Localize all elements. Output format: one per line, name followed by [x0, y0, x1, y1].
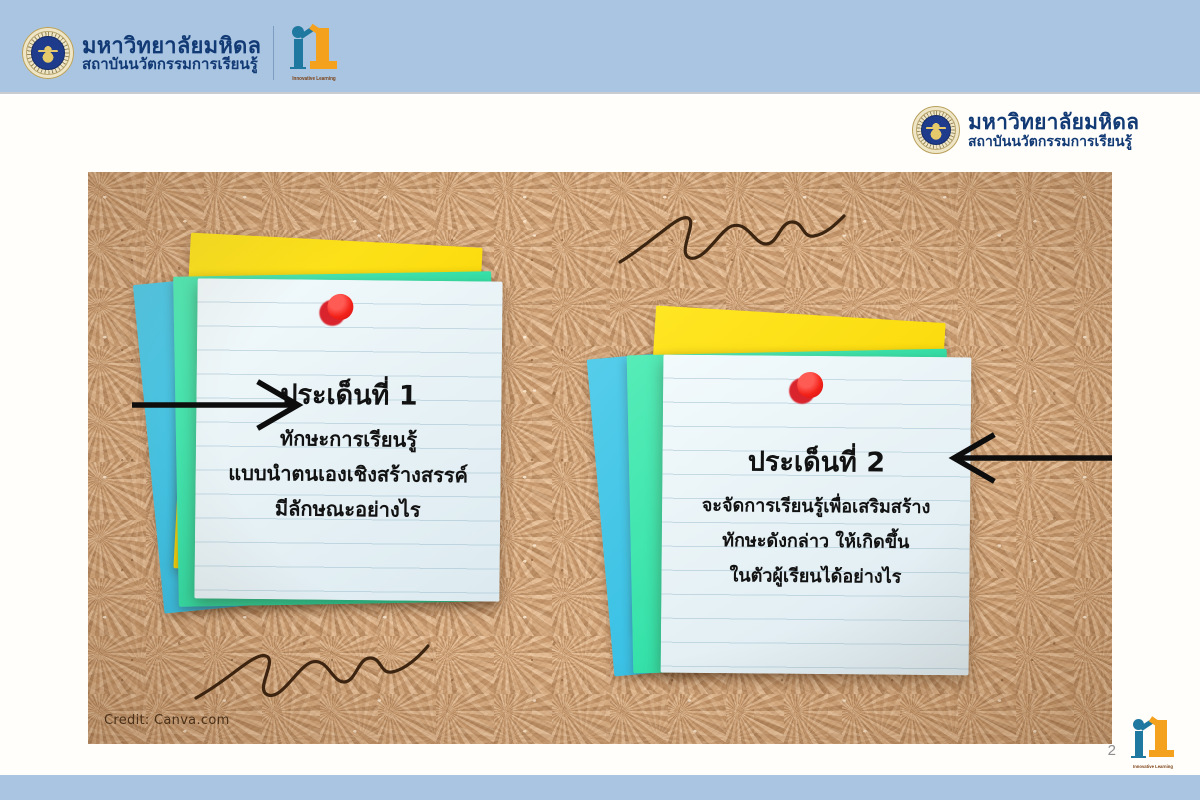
footer-banner	[0, 775, 1200, 800]
footer-il-caption: Innovative Learning	[1130, 764, 1176, 769]
slide-brand-lockup: มหาวิทยาลัยมหิดล สถาบันนวัตกรรมการเรียนร…	[912, 106, 1139, 154]
note-2-title: ประเด็นที่ 2	[662, 439, 970, 485]
slide-brand-text: มหาวิทยาลัยมหิดล สถาบันนวัตกรรมการเรียนร…	[968, 112, 1139, 149]
arrow-right-icon	[132, 377, 312, 433]
note-2-paper[interactable]: ประเด็นที่ 2 จะจัดการเรียนรู้เพื่อเสริมส…	[661, 355, 972, 676]
slide-org-name-line1: มหาวิทยาลัยมหิดล	[968, 112, 1139, 134]
header-brand-text: มหาวิทยาลัยมหิดล สถาบันนวัตกรรมการเรียนร…	[82, 34, 261, 73]
corkboard-panel: ประเด็นที่ 1 ทักษะการเรียนรู้ แบบนำตนเอง…	[88, 172, 1112, 744]
note-1-paper[interactable]: ประเด็นที่ 1 ทักษะการเรียนรู้ แบบนำตนเอง…	[194, 278, 502, 601]
note-2-line-1: จะจัดการเรียนรู้เพื่อเสริมสร้าง	[662, 490, 970, 522]
mahidol-seal-icon	[912, 106, 960, 154]
arrow-left-icon	[940, 430, 1112, 486]
innovative-learning-logo-icon: Innovative Learning	[1128, 717, 1178, 769]
note-2-line-3: ในตัวผู้เรียนได้อย่างไร	[661, 560, 969, 592]
note-1-line-3: มีลักษณะอย่างไร	[195, 491, 500, 526]
slide-org-name-line2: สถาบันนวัตกรรมการเรียนรู้	[968, 134, 1139, 149]
vertical-divider	[273, 26, 274, 80]
slide-canvas: มหาวิทยาลัยมหิดล สถาบันนวัตกรรมการเรียนร…	[0, 0, 1200, 800]
note-1-line-2: แบบนำตนเองเชิงสร้างสรรค์	[195, 456, 500, 491]
top-banner: มหาวิทยาลัยมหิดล สถาบันนวัตกรรมการเรียนร…	[0, 0, 1200, 94]
header-org-name-line2: สถาบันนวัตกรรมการเรียนรู้	[82, 57, 261, 73]
note-card-1[interactable]: ประเด็นที่ 1 ทักษะการเรียนรู้ แบบนำตนเอง…	[148, 234, 568, 664]
header-brand-lockup: มหาวิทยาลัยมหิดล สถาบันนวัตกรรมการเรียนร…	[22, 24, 342, 82]
header-il-caption: Innovative Learning	[288, 76, 340, 82]
note-2-line-2: ทักษะดังกล่าว ให้เกิดขึ้น	[662, 525, 970, 557]
squiggle-line-icon	[616, 200, 846, 270]
red-pushpin-icon	[789, 372, 823, 406]
header-org-name-line1: มหาวิทยาลัยมหิดล	[82, 34, 261, 57]
innovative-learning-logo-icon: Innovative Learning	[286, 24, 342, 82]
credit-label: Credit: Canva.com	[104, 713, 230, 728]
slide-body: มหาวิทยาลัยมหิดล สถาบันนวัตกรรมการเรียนร…	[0, 96, 1200, 775]
note-card-2[interactable]: ประเด็นที่ 2 จะจัดการเรียนรู้เพื่อเสริมส…	[600, 312, 1040, 732]
mahidol-seal-icon	[22, 27, 74, 79]
red-pushpin-icon	[319, 294, 353, 328]
page-number: 2	[1108, 742, 1116, 759]
